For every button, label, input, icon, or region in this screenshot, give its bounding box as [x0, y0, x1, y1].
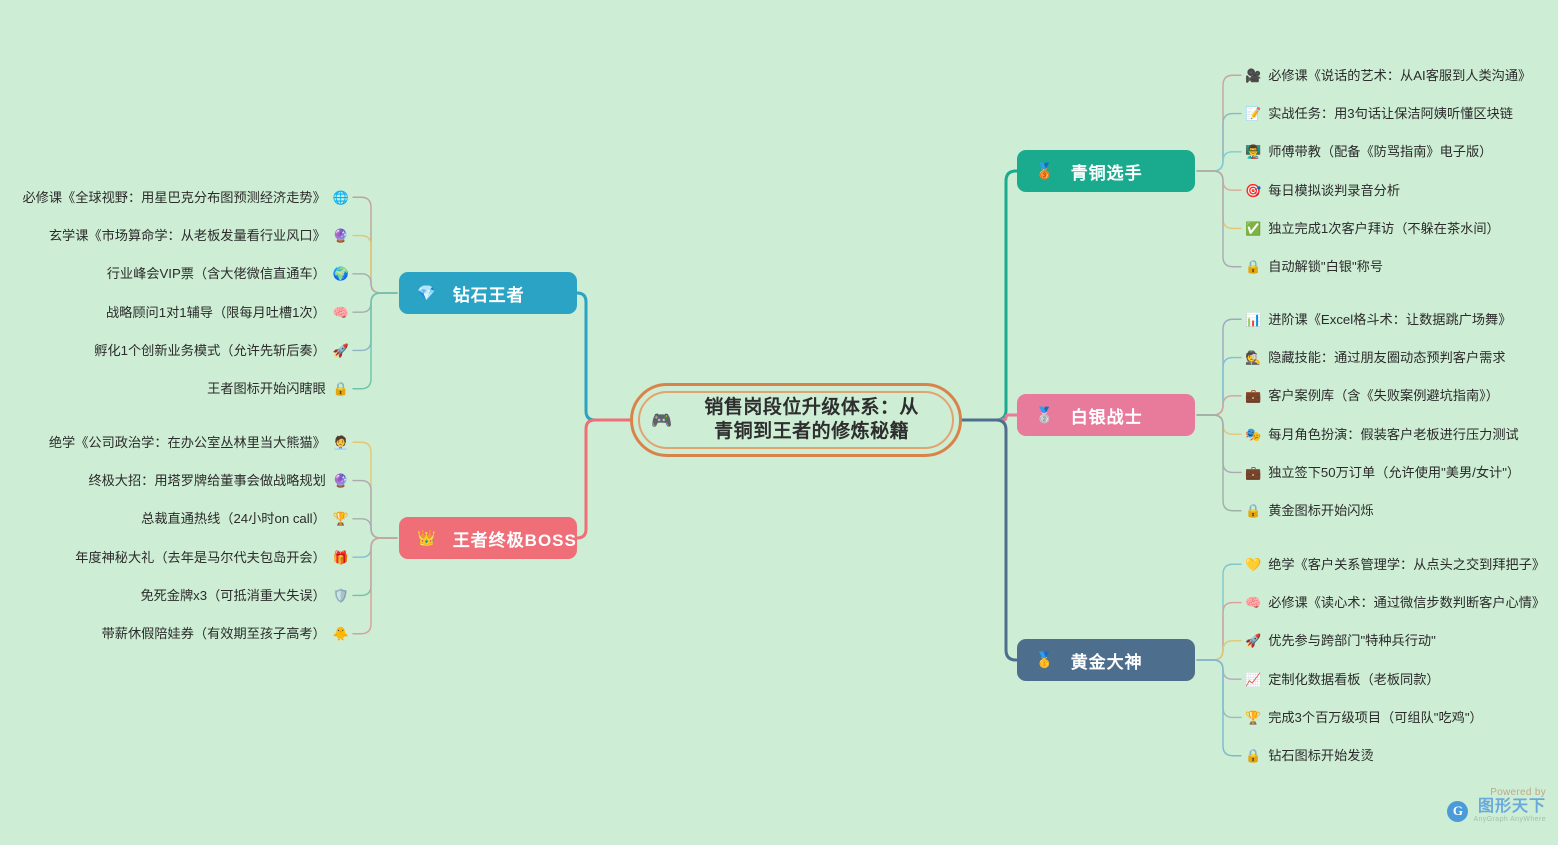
leaf-item[interactable]: 🏆总裁直通热线（24小时on call） — [141, 508, 349, 530]
connector-line — [353, 538, 397, 595]
branch-node-silver[interactable]: 🥈白银战士 — [1017, 394, 1195, 436]
leaf-item[interactable]: 🛡️免死金牌x3（可抵消重大失误） — [140, 584, 349, 606]
root-title: 销售岗段位升级体系：从 青铜到王者的修炼秘籍 — [678, 396, 945, 445]
leaf-label: 定制化数据看板（老板同款） — [1268, 673, 1439, 686]
leaf-label: 绝学《客户关系管理学：从点头之交到拜把子》 — [1268, 558, 1545, 571]
leaf-label: 玄学课《市场算命学：从老板发量看行业风口》 — [49, 229, 326, 242]
leaf-label: 师傅带教（配备《防骂指南》电子版） — [1268, 145, 1492, 158]
leaf-item[interactable]: 📈定制化数据看板（老板同款） — [1245, 668, 1440, 690]
connector-line — [1197, 114, 1241, 171]
leaf-label: 必修课《全球视野：用星巴克分布图预测经济走势》 — [23, 191, 326, 204]
leaf-label: 黄金图标开始闪烁 — [1268, 504, 1374, 517]
leaf-item[interactable]: 🌐必修课《全球视野：用星巴克分布图预测经济走势》 — [23, 186, 350, 208]
leaf-item[interactable]: 💼客户案例库（含《失败案例避坑指南》） — [1245, 385, 1499, 407]
root-node[interactable]: 🎮 销售岗段位升级体系：从 青铜到王者的修炼秘籍 — [630, 383, 962, 457]
leaf-label: 自动解锁"白银"称号 — [1268, 260, 1383, 273]
leaf-label: 客户案例库（含《失败案例避坑指南》） — [1268, 389, 1499, 402]
connector-line — [353, 293, 397, 350]
connector-line — [958, 420, 1017, 660]
connector-line — [1197, 358, 1241, 415]
gamepad-icon: 🎮 — [651, 412, 672, 429]
connector-line — [1197, 171, 1241, 267]
leaf-item[interactable]: ✅独立完成1次客户拜访（不躲在茶水间） — [1245, 217, 1500, 239]
leaf-item[interactable]: 🔒自动解锁"白银"称号 — [1245, 256, 1383, 278]
connector-line — [353, 236, 397, 293]
connector-line — [353, 519, 397, 538]
branch-label-bronze: 青铜选手 — [1071, 159, 1143, 184]
bronze-medal-icon: 🥉 — [1035, 164, 1055, 179]
silver-medal-icon: 🥈 — [1035, 408, 1055, 423]
branch-node-boss[interactable]: 👑王者终极BOSS — [399, 517, 577, 559]
leaf-item[interactable]: 🧠必修课《读心术：通过微信步数判断客户心情》 — [1245, 592, 1545, 614]
watermark-tagline: AnyGraph AnyWhere — [1473, 816, 1546, 823]
mindmap-canvas: 🎮 销售岗段位升级体系：从 青铜到王者的修炼秘籍 🥉青铜选手🥈白银战士🥇黄金大神… — [0, 0, 1558, 845]
connector-line — [1197, 415, 1241, 511]
chart-increasing-icon: 📈 — [1245, 673, 1261, 686]
leaf-item[interactable]: 🔮终极大招：用塔罗牌给董事会做战略规划 — [88, 470, 349, 492]
connector-line — [1197, 152, 1241, 171]
leaf-item[interactable]: 🚀孵化1个创新业务模式（允许先斩后奏） — [94, 339, 349, 361]
lock-icon: 🔒 — [1245, 749, 1261, 762]
leaf-label: 优先参与跨部门"特种兵行动" — [1268, 634, 1436, 647]
yellow-heart-icon: 💛 — [1245, 558, 1261, 571]
shield-icon: 🛡️ — [333, 589, 349, 602]
leaf-item[interactable]: 🐥带薪休假陪娃券（有效期至孩子高考） — [102, 623, 349, 645]
connector-line — [958, 171, 1017, 420]
branch-label-gold: 黄金大神 — [1071, 648, 1143, 673]
root-title-line1: 销售岗段位升级体系：从 — [704, 397, 919, 418]
leaf-label: 绝学《公司政治学：在办公室丛林里当大熊猫》 — [49, 436, 326, 449]
leaf-label: 独立完成1次客户拜访（不躲在茶水间） — [1268, 222, 1500, 235]
bar-chart-icon: 📊 — [1245, 313, 1261, 326]
connector-line — [1197, 564, 1241, 660]
leaf-item[interactable]: 🌍行业峰会VIP票（含大佬微信直通车） — [107, 263, 349, 285]
leaf-item[interactable]: 🧑‍💼绝学《公司政治学：在办公室丛林里当大熊猫》 — [49, 431, 349, 453]
gold-medal-icon: 🥇 — [1035, 653, 1055, 668]
crystal-ball-icon: 🔮 — [333, 229, 349, 242]
leaf-label: 孵化1个创新业务模式（允许先斩后奏） — [94, 344, 326, 357]
leaf-item[interactable]: 🕵️隐藏技能：通过朋友圈动态预判客户需求 — [1245, 347, 1506, 369]
leaf-label: 必修课《说话的艺术：从AI客服到人类沟通》 — [1268, 69, 1531, 82]
watermark-brand: 图形天下 — [1473, 799, 1546, 815]
leaf-label: 钻石图标开始发烫 — [1268, 749, 1374, 762]
connector-line — [353, 293, 397, 312]
lock-icon: 🔒 — [1245, 260, 1261, 273]
watermark-logo-icon: G — [1447, 801, 1468, 822]
connector-line — [1197, 415, 1241, 434]
connector-line — [1197, 415, 1241, 472]
baby-chick-icon: 🐥 — [333, 627, 349, 640]
globe-icon: 🌐 — [333, 191, 349, 204]
leaf-label: 终极大招：用塔罗牌给董事会做战略规划 — [88, 474, 325, 487]
leaf-label: 每月角色扮演：假装客户老板进行压力测试 — [1268, 428, 1519, 441]
leaf-label: 年度神秘大礼（去年是马尔代夫包岛开会） — [75, 551, 326, 564]
leaf-item[interactable]: 🔒钻石图标开始发烫 — [1245, 745, 1374, 767]
target-icon: 🎯 — [1245, 184, 1261, 197]
connector-line — [1197, 171, 1241, 228]
teacher-icon: 👨‍🏫 — [1245, 145, 1261, 158]
leaf-item[interactable]: 🚀优先参与跨部门"特种兵行动" — [1245, 630, 1436, 652]
leaf-label: 带薪休假陪娃券（有效期至孩子高考） — [102, 627, 326, 640]
leaf-item[interactable]: 🎥必修课《说话的艺术：从AI客服到人类沟通》 — [1245, 64, 1531, 86]
leaf-item[interactable]: 🔮玄学课《市场算命学：从老板发量看行业风口》 — [49, 225, 349, 247]
leaf-label: 独立签下50万订单（允许使用"美男/女计"） — [1268, 466, 1520, 479]
branch-node-diamond[interactable]: 💎钻石王者 — [399, 272, 577, 314]
brain-icon: 🧠 — [333, 306, 349, 319]
leaf-item[interactable]: 🎭每月角色扮演：假装客户老板进行压力测试 — [1245, 423, 1519, 445]
connector-line — [353, 538, 397, 557]
video-camera-icon: 🎥 — [1245, 69, 1261, 82]
crystal-ball-icon: 🔮 — [333, 474, 349, 487]
watermark: Powered by G 图形天下 AnyGraph AnyWhere — [1447, 787, 1546, 823]
leaf-item[interactable]: 💛绝学《客户关系管理学：从点头之交到拜把子》 — [1245, 553, 1545, 575]
crown-icon: 👑 — [417, 531, 437, 546]
lock-icon: 🔒 — [1245, 504, 1261, 517]
leaf-item[interactable]: 🎁年度神秘大礼（去年是马尔代夫包岛开会） — [75, 546, 349, 568]
briefcase-icon: 💼 — [1245, 389, 1261, 402]
rocket-icon: 🚀 — [333, 344, 349, 357]
connector-line — [1197, 396, 1241, 415]
leaf-label: 总裁直通热线（24小时on call） — [141, 512, 326, 525]
connector-line — [1197, 171, 1241, 190]
leaf-label: 完成3个百万级项目（可组队"吃鸡"） — [1268, 711, 1483, 724]
rocket-icon: 🚀 — [1245, 634, 1261, 647]
leaf-label: 每日模拟谈判录音分析 — [1268, 184, 1400, 197]
connector-line — [1197, 603, 1241, 660]
memo-icon: 📝 — [1245, 107, 1261, 120]
briefcase-icon: 💼 — [1245, 466, 1261, 479]
leaf-label: 实战任务：用3句话让保洁阿姨听懂区块链 — [1268, 107, 1513, 120]
brain-icon: 🧠 — [1245, 596, 1261, 609]
connector-line — [353, 481, 397, 538]
leaf-item[interactable]: 👨‍🏫师傅带教（配备《防骂指南》电子版） — [1245, 141, 1492, 163]
watermark-powered-by: Powered by — [1447, 787, 1546, 798]
gift-icon: 🎁 — [333, 551, 349, 564]
branch-label-diamond: 钻石王者 — [453, 281, 525, 306]
branch-node-gold[interactable]: 🥇黄金大神 — [1017, 639, 1195, 681]
connector-line — [577, 420, 634, 538]
leaf-label: 王者图标开始闪瞎眼 — [207, 382, 326, 395]
connector-line — [353, 538, 397, 634]
leaf-item[interactable]: 🔒黄金图标开始闪烁 — [1245, 500, 1374, 522]
leaf-item[interactable]: 📊进阶课《Excel格斗术：让数据跳广场舞》 — [1245, 308, 1511, 330]
leaf-label: 战略顾问1对1辅导（限每月吐槽1次） — [106, 306, 326, 319]
connector-line — [577, 293, 634, 420]
connector-line — [353, 442, 397, 538]
earth-globe-icon: 🌍 — [333, 267, 349, 280]
detective-icon: 🕵️ — [1245, 351, 1261, 364]
connector-line — [1197, 660, 1241, 679]
diamond-icon: 💎 — [417, 286, 437, 301]
leaf-label: 行业峰会VIP票（含大佬微信直通车） — [107, 267, 326, 280]
branch-node-bronze[interactable]: 🥉青铜选手 — [1017, 150, 1195, 192]
root-title-line2: 青铜到王者的修炼秘籍 — [714, 421, 909, 442]
connector-line — [1197, 75, 1241, 171]
leaf-item[interactable]: 🔒王者图标开始闪瞎眼 — [207, 378, 349, 400]
lock-icon: 🔒 — [333, 382, 349, 395]
leaf-label: 免死金牌x3（可抵消重大失误） — [140, 589, 325, 602]
leaf-item[interactable]: 🏆完成3个百万级项目（可组队"吃鸡"） — [1245, 706, 1483, 728]
connector-line — [1197, 641, 1241, 660]
office-worker-icon: 🧑‍💼 — [333, 436, 349, 449]
leaf-item[interactable]: 🎯每日模拟谈判录音分析 — [1245, 179, 1400, 201]
branch-label-boss: 王者终极BOSS — [453, 526, 577, 551]
performing-arts-icon: 🎭 — [1245, 428, 1261, 441]
check-mark-icon: ✅ — [1245, 222, 1261, 235]
connector-line — [353, 274, 397, 293]
connector-line — [353, 293, 397, 389]
leaf-label: 必修课《读心术：通过微信步数判断客户心情》 — [1268, 596, 1545, 609]
leaf-item[interactable]: 📝实战任务：用3句话让保洁阿姨听懂区块链 — [1245, 103, 1513, 125]
leaf-item[interactable]: 🧠战略顾问1对1辅导（限每月吐槽1次） — [106, 301, 349, 323]
connector-line — [1197, 319, 1241, 415]
connector-line — [1197, 660, 1241, 717]
connector-line — [958, 415, 1017, 420]
leaf-label: 进阶课《Excel格斗术：让数据跳广场舞》 — [1268, 313, 1511, 326]
connector-line — [1197, 660, 1241, 756]
leaf-label: 隐藏技能：通过朋友圈动态预判客户需求 — [1268, 351, 1505, 364]
leaf-item[interactable]: 💼独立签下50万订单（允许使用"美男/女计"） — [1245, 461, 1520, 483]
trophy-icon: 🏆 — [333, 512, 349, 525]
trophy-icon: 🏆 — [1245, 711, 1261, 724]
branch-label-silver: 白银战士 — [1071, 403, 1143, 428]
connector-line — [353, 197, 397, 293]
